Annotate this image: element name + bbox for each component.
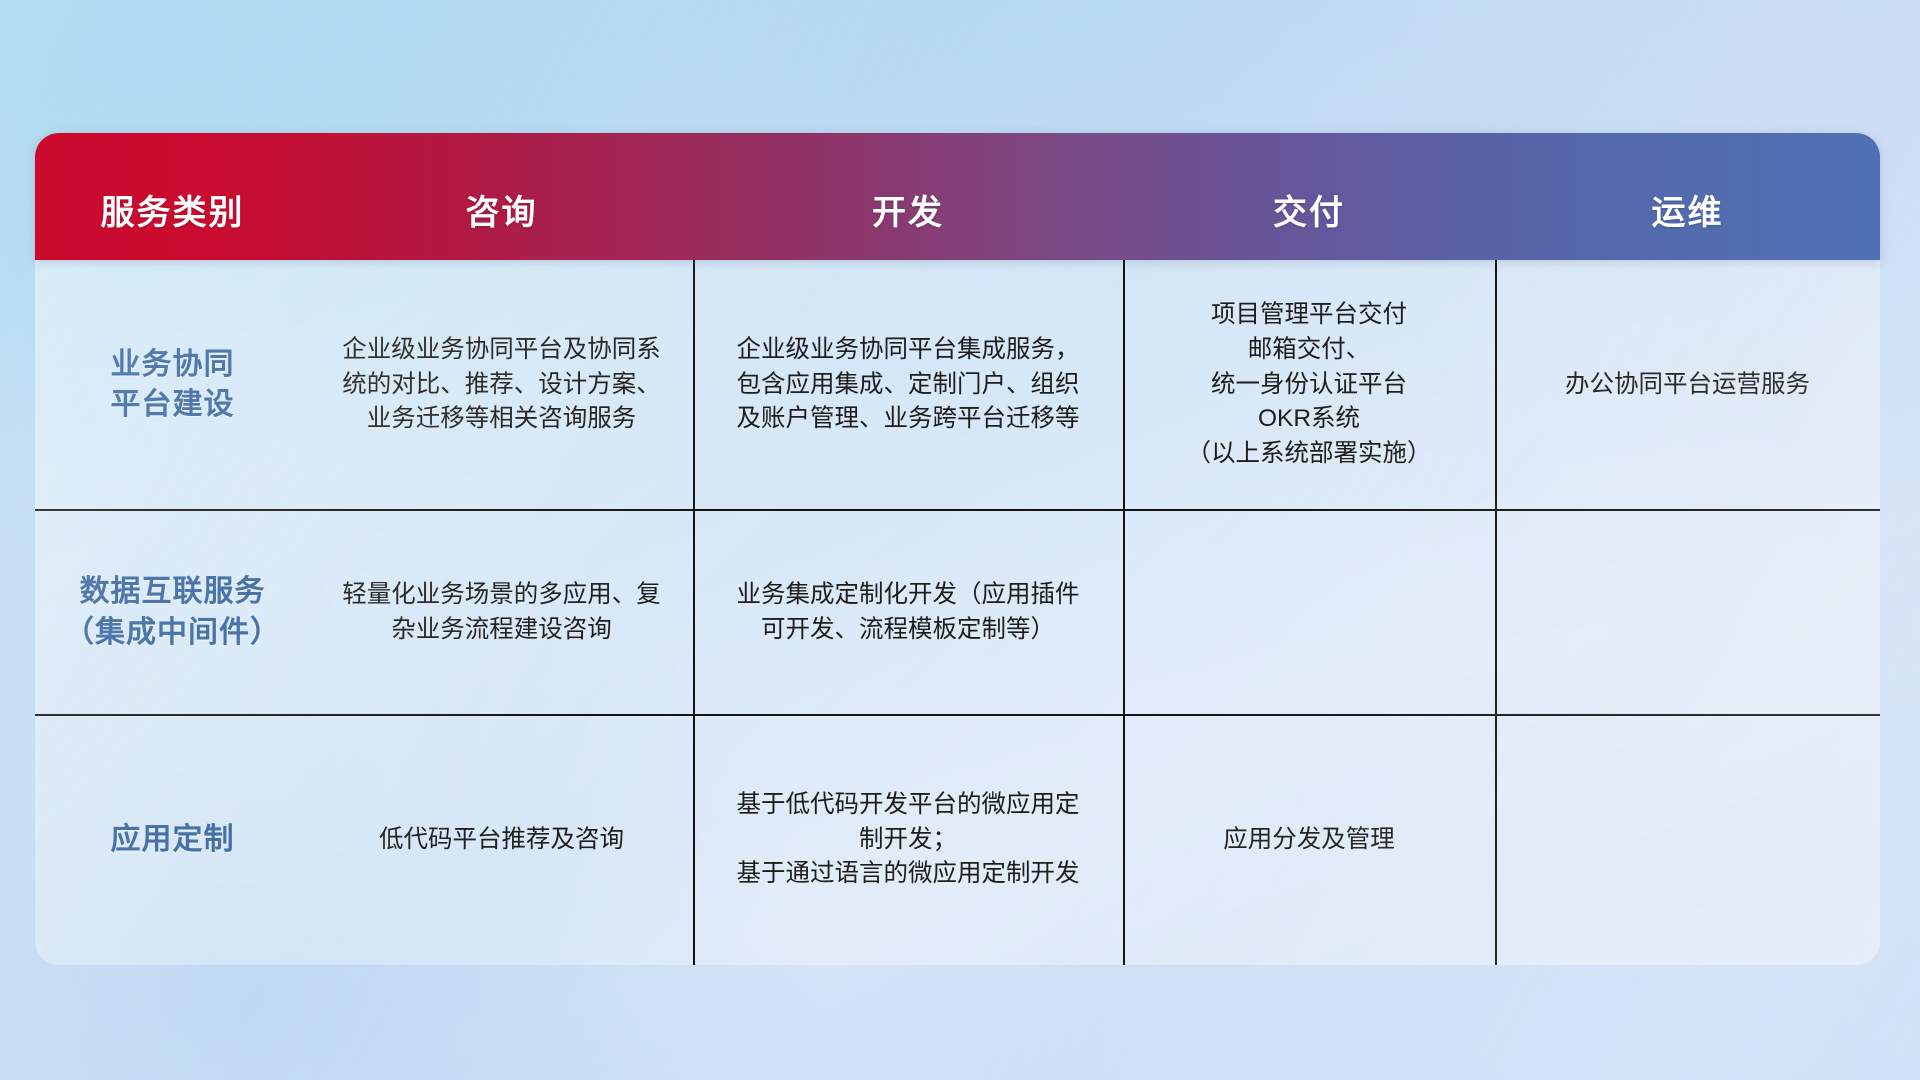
row-label-application-customization: 应用定制	[35, 715, 310, 965]
cell-development: 基于低代码开发平台的微应用定 制开发； 基于通过语言的微应用定制开发	[693, 715, 1123, 965]
row-label-business-collaboration: 业务协同 平台建设	[35, 260, 310, 510]
column-header-operations: 运维	[1495, 133, 1880, 260]
table-body: 业务协同 平台建设 企业级业务协同平台及协同系 统的对比、推荐、设计方案、 业务…	[35, 260, 1880, 965]
cell-development: 业务集成定制化开发（应用插件 可开发、流程模板定制等）	[693, 510, 1123, 715]
table-row: 业务协同 平台建设 企业级业务协同平台及协同系 统的对比、推荐、设计方案、 业务…	[35, 260, 1880, 510]
table-row: 应用定制 低代码平台推荐及咨询 基于低代码开发平台的微应用定 制开发； 基于通过…	[35, 715, 1880, 965]
cell-operations: 办公协同平台运营服务	[1495, 260, 1880, 510]
row-label-data-interconnection: 数据互联服务 （集成中间件）	[35, 510, 310, 715]
cell-delivery: 应用分发及管理	[1123, 715, 1495, 965]
cell-delivery: 项目管理平台交付 邮箱交付、 统一身份认证平台 OKR系统 （以上系统部署实施）	[1123, 260, 1495, 510]
column-header-category: 服务类别	[35, 133, 310, 260]
cell-delivery	[1123, 510, 1495, 715]
column-header-consulting: 咨询	[310, 133, 693, 260]
column-header-development: 开发	[693, 133, 1123, 260]
table-header-row: 服务类别 咨询 开发 交付 运维	[35, 133, 1880, 260]
slide-canvas: 服务类别 咨询 开发 交付 运维 业务协同 平台建设 企业级业务协同平台及协同系…	[0, 0, 1920, 1080]
table-row: 数据互联服务 （集成中间件） 轻量化业务场景的多应用、复 杂业务流程建设咨询 业…	[35, 510, 1880, 715]
cell-consulting: 轻量化业务场景的多应用、复 杂业务流程建设咨询	[310, 510, 693, 715]
cell-consulting: 低代码平台推荐及咨询	[310, 715, 693, 965]
cell-development: 企业级业务协同平台集成服务， 包含应用集成、定制门户、组织 及账户管理、业务跨平…	[693, 260, 1123, 510]
service-matrix-table: 服务类别 咨询 开发 交付 运维 业务协同 平台建设 企业级业务协同平台及协同系…	[35, 133, 1880, 965]
cell-operations	[1495, 510, 1880, 715]
cell-operations	[1495, 715, 1880, 965]
column-header-delivery: 交付	[1123, 133, 1495, 260]
cell-consulting: 企业级业务协同平台及协同系 统的对比、推荐、设计方案、 业务迁移等相关咨询服务	[310, 260, 693, 510]
